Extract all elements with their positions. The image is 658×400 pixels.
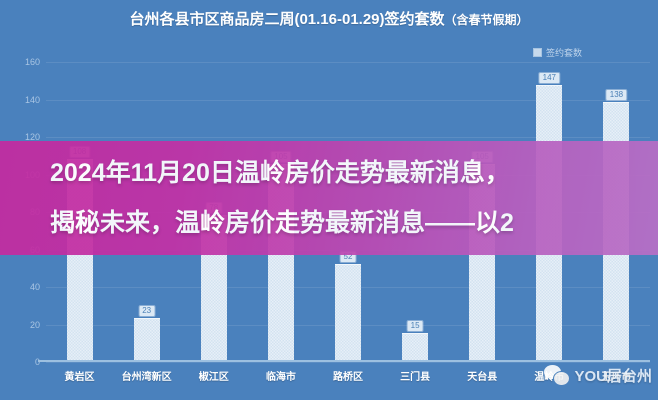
headline-line-1: 2024年11月20日温岭房价走势最新消息， — [10, 148, 648, 198]
bar-value-label: 15 — [408, 321, 423, 331]
bar — [335, 264, 361, 363]
y-tick-label: 0 — [35, 357, 40, 367]
y-tick-label: 20 — [30, 320, 40, 330]
x-axis-line — [38, 360, 650, 362]
x-tick-label: 路桥区 — [314, 368, 381, 383]
chart-legend: 签约套数 — [533, 46, 582, 59]
x-tick-label: 黄岩区 — [46, 368, 113, 383]
y-tick-label: 40 — [30, 282, 40, 292]
bar-value-label: 138 — [607, 90, 626, 100]
chart-title-main: 台州各县市区商品房二周(01.16-01.29)签约套数 — [129, 11, 444, 28]
wechat-icon — [544, 364, 570, 386]
gridline — [46, 362, 650, 363]
article-headline-overlay: 2024年11月20日温岭房价走势最新消息， 揭秘未来，温岭房价走势最新消息——… — [0, 141, 658, 255]
x-tick-label: 台州湾新区 — [113, 368, 180, 383]
chart-title: 台州各县市区商品房二周(01.16-01.29)签约套数（含春节假期） — [0, 8, 658, 29]
bar — [134, 318, 160, 362]
bar-value-label: 147 — [540, 73, 559, 83]
y-tick-label: 160 — [25, 57, 40, 67]
x-tick-label: 临海市 — [247, 368, 314, 383]
watermark-text: YOU居台州 — [574, 365, 652, 386]
headline-line-2: 揭秘未来，温岭房价走势最新消息——以2 — [10, 198, 648, 248]
x-tick-label: 天台县 — [449, 368, 516, 383]
bar — [402, 333, 428, 362]
x-tick-label: 椒江区 — [180, 368, 247, 383]
bar-value-label: 23 — [139, 306, 154, 316]
watermark: YOU居台州 — [544, 364, 652, 386]
legend-swatch-icon — [533, 48, 542, 57]
y-tick-label: 140 — [25, 95, 40, 105]
legend-label: 签约套数 — [546, 46, 582, 59]
screenshot-stage: 台州各县市区商品房二周(01.16-01.29)签约套数（含春节假期） 签约套数… — [0, 0, 658, 400]
x-tick-label: 三门县 — [382, 368, 449, 383]
chart-title-sub: （含春节假期） — [445, 13, 529, 27]
